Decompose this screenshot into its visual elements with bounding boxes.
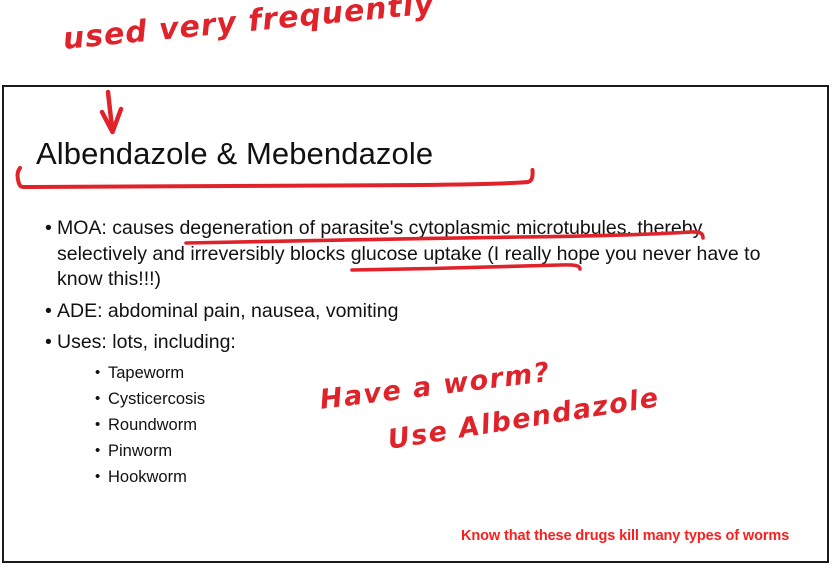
bullet-item-moa: • MOA: causes degeneration of parasite's… — [44, 216, 784, 293]
bullet-marker: • — [95, 360, 100, 386]
sub-bullet-pinworm: • Pinworm — [95, 438, 784, 464]
sub-bullet-hookworm: • Hookworm — [95, 464, 784, 490]
bullet-text: ADE: abdominal pain, nausea, vomiting — [57, 299, 784, 325]
sub-bullet-text: Roundworm — [108, 416, 197, 434]
bullet-text: Uses: lots, including: — [57, 330, 784, 356]
bullet-item-uses: • Uses: lots, including: • Tapeworm • Cy… — [44, 330, 784, 490]
bullet-marker: • — [95, 412, 100, 438]
sub-bullet-text: Cysticercosis — [108, 390, 205, 408]
bullet-marker: • — [45, 330, 52, 356]
bullet-marker: • — [95, 464, 100, 490]
sub-bullet-text: Pinworm — [108, 442, 172, 460]
bullet-marker: • — [45, 216, 52, 242]
sub-bullet-text: Tapeworm — [108, 364, 184, 382]
slide-body: • MOA: causes degeneration of parasite's… — [44, 216, 784, 496]
handwritten-note-used-very-frequently: used very frequently — [61, 0, 436, 57]
bullet-marker: • — [45, 299, 52, 325]
sub-bullet-roundworm: • Roundworm — [95, 412, 784, 438]
bullet-text: MOA: causes degeneration of parasite's c… — [57, 216, 784, 293]
bottom-red-caption: Know that these drugs kill many types of… — [461, 528, 789, 544]
uses-sub-list: • Tapeworm • Cysticercosis • Roundworm •… — [57, 360, 784, 490]
sub-bullet-text: Hookworm — [108, 468, 187, 486]
sub-bullet-cysticercosis: • Cysticercosis — [95, 386, 784, 412]
bullet-marker: • — [95, 386, 100, 412]
sub-bullet-tapeworm: • Tapeworm — [95, 360, 784, 386]
slide-title: Albendazole & Mebendazole — [36, 134, 433, 174]
bullet-item-ade: • ADE: abdominal pain, nausea, vomiting — [44, 299, 784, 325]
bullet-marker: • — [95, 438, 100, 464]
